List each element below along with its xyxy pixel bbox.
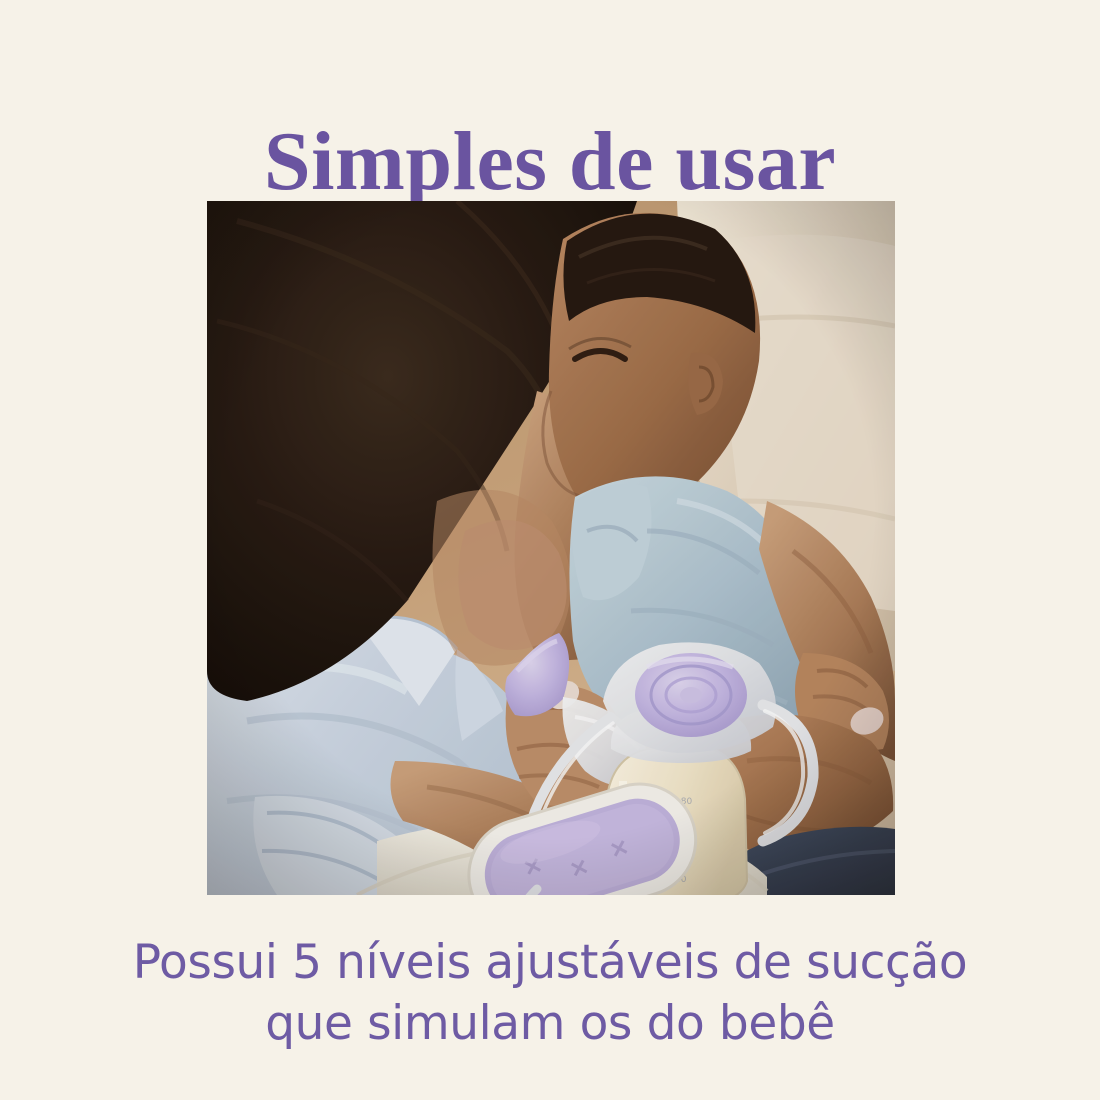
product-photo: 180 120 60 — [207, 201, 895, 895]
page-title: Simples de usar — [0, 114, 1100, 210]
caption-line-1: Possui 5 níveis ajustáveis de sucção — [0, 932, 1100, 993]
promo-card: Simples de usar — [0, 0, 1100, 1100]
photo-illustration: 180 120 60 — [207, 201, 895, 895]
caption-text: Possui 5 níveis ajustáveis de sucção que… — [0, 932, 1100, 1054]
caption-line-2: que simulam os do bebê — [0, 993, 1100, 1054]
